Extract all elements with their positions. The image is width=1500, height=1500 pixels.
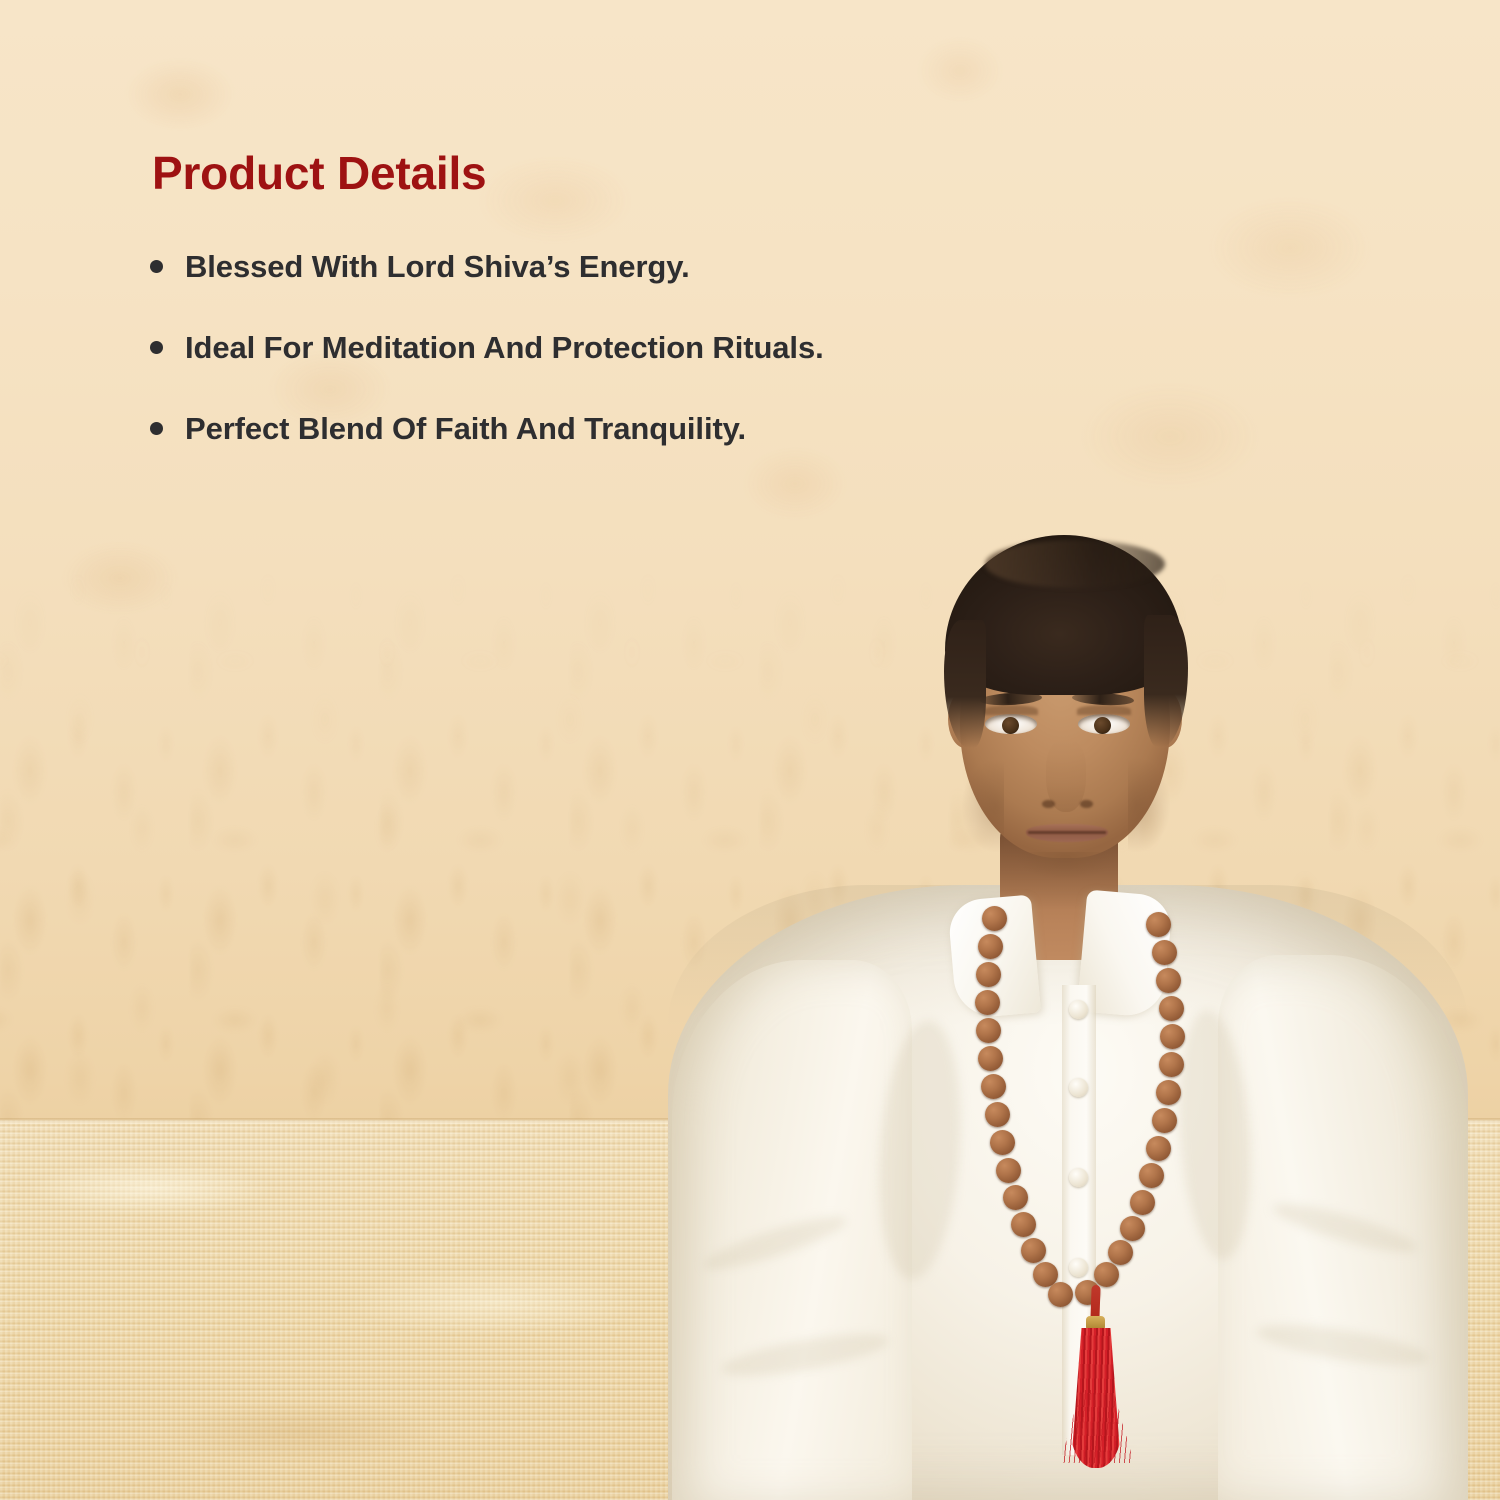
list-item: Perfect Blend Of Faith And Tranquility. [150,410,1110,447]
rudraksha-bead [1159,1052,1184,1077]
rudraksha-bead [1146,1136,1171,1161]
rudraksha-bead [1152,1108,1177,1133]
rudraksha-bead [978,934,1003,959]
right-sideburn [1144,615,1188,747]
rudraksha-bead [1120,1216,1145,1241]
rudraksha-bead [1094,1262,1119,1287]
left-nostril [1042,800,1055,808]
lip-line [1028,831,1106,834]
rudraksha-bead [1048,1282,1073,1307]
bullet-dot-icon [150,422,163,435]
kurta-button [1069,1078,1088,1097]
kurta-button [1069,1168,1088,1187]
list-item-label: Ideal For Meditation And Protection Ritu… [185,329,824,366]
rudraksha-bead [1159,996,1184,1021]
left-cheek-shading [962,760,1004,852]
rudraksha-bead [1011,1212,1036,1237]
bullet-dot-icon [150,260,163,273]
rudraksha-bead [1152,940,1177,965]
model-photo [0,0,1500,1500]
rudraksha-bead [1139,1163,1164,1188]
kurta-button [1069,1258,1088,1277]
product-details-banner: Product Details Blessed With Lord Shiva’… [0,0,1500,1500]
rudraksha-bead [990,1130,1015,1155]
list-item: Ideal For Meditation And Protection Ritu… [150,329,1110,366]
rudraksha-bead [982,906,1007,931]
rudraksha-bead [1003,1185,1028,1210]
right-cheek-shading [1128,758,1170,852]
rudraksha-bead [976,962,1001,987]
rudraksha-bead [981,1074,1006,1099]
rudraksha-bead [996,1158,1021,1183]
right-eyelid [1077,705,1131,715]
list-item-label: Blessed With Lord Shiva’s Energy. [185,248,690,285]
right-nostril [1080,800,1093,808]
right-iris [1094,717,1111,734]
kurta-button [1069,1000,1088,1019]
list-item: Blessed With Lord Shiva’s Energy. [150,248,1110,285]
rudraksha-bead [978,1046,1003,1071]
hair-highlight [985,540,1165,588]
rudraksha-bead [1108,1240,1133,1265]
page-title: Product Details [152,146,486,200]
rudraksha-bead [1021,1238,1046,1263]
left-iris [1002,717,1019,734]
rudraksha-bead [1156,968,1181,993]
rudraksha-bead [1130,1190,1155,1215]
rudraksha-bead [975,990,1000,1015]
list-item-label: Perfect Blend Of Faith And Tranquility. [185,410,746,447]
rudraksha-bead [1146,912,1171,937]
rudraksha-bead [1156,1080,1181,1105]
left-eyelid [984,705,1038,715]
bullet-dot-icon [150,341,163,354]
rudraksha-bead [1160,1024,1185,1049]
chin-shading [1016,852,1116,880]
product-details-list: Blessed With Lord Shiva’s Energy. Ideal … [150,248,1110,492]
rudraksha-bead [985,1102,1010,1127]
rudraksha-bead [976,1018,1001,1043]
